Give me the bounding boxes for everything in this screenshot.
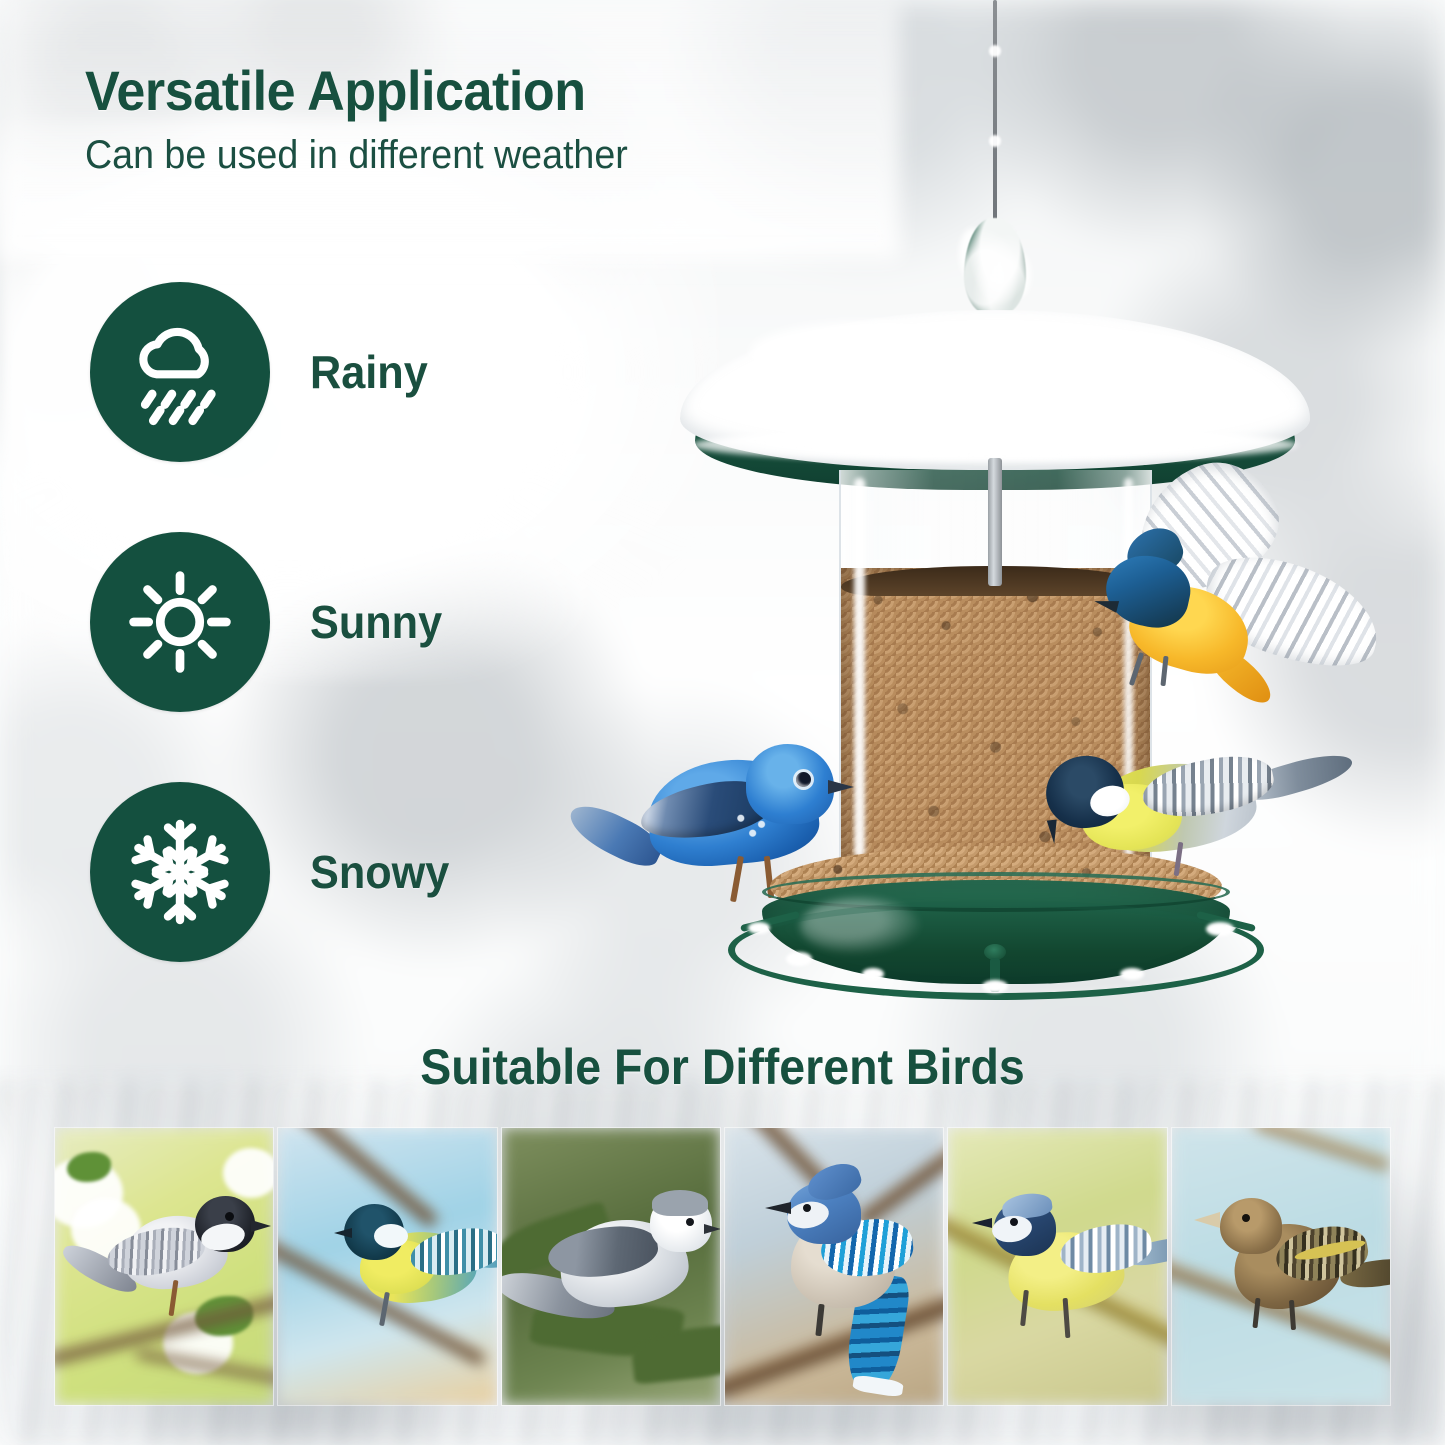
photo-chickadee bbox=[55, 1128, 273, 1405]
photo-great-tit bbox=[278, 1128, 496, 1405]
greenfinch-beak bbox=[1194, 1212, 1220, 1228]
center-rod bbox=[988, 458, 1002, 586]
roof-snow-bump-left bbox=[750, 322, 980, 384]
photo-blue-jay bbox=[725, 1128, 943, 1405]
gray-jay-beak bbox=[704, 1224, 720, 1234]
snow-clump-3 bbox=[982, 980, 1008, 993]
page-title: Versatile Application bbox=[85, 62, 622, 121]
blue-bird-beak bbox=[828, 780, 854, 794]
greenfinch-head bbox=[1220, 1198, 1282, 1254]
chickadee-eye bbox=[225, 1212, 234, 1221]
feature-label-sunny: Sunny bbox=[310, 595, 442, 649]
rain-cloud-icon bbox=[122, 314, 238, 430]
feature-item-rainy: Rainy bbox=[90, 282, 610, 462]
photo-gray-jay bbox=[502, 1128, 720, 1405]
feature-label-snowy: Snowy bbox=[310, 845, 449, 899]
snowy-badge bbox=[90, 782, 270, 962]
product-infographic: Versatile Application Can be used in dif… bbox=[0, 0, 1445, 1445]
feature-item-snowy: Snowy bbox=[90, 782, 610, 962]
snow-clump-4 bbox=[1120, 968, 1144, 980]
flying-bird-leg-left bbox=[1129, 652, 1144, 686]
roof-snow-edge bbox=[692, 428, 1298, 462]
feeder-bird-great-tit bbox=[1030, 738, 1370, 918]
roof-snow-bump-right bbox=[1000, 330, 1210, 386]
snowflake-icon bbox=[120, 812, 240, 932]
snow-clump-2 bbox=[862, 968, 884, 980]
snow-clump-6 bbox=[748, 922, 770, 934]
bird-photo-strip bbox=[55, 1128, 1390, 1405]
blossom-4 bbox=[223, 1148, 273, 1198]
hanging-chain bbox=[993, 0, 997, 232]
weather-feature-list: Rainy Sunny bbox=[90, 282, 610, 1032]
snow-clump-1 bbox=[786, 952, 812, 966]
greenfinch-eye bbox=[1242, 1214, 1250, 1222]
blue-bird-eye bbox=[796, 772, 811, 787]
feeder-bird-flying-yellow bbox=[1090, 470, 1410, 720]
blue-tit-beak bbox=[972, 1218, 992, 1228]
blue-jay-beak bbox=[765, 1202, 791, 1214]
birds-section-title: Suitable For Different Birds bbox=[51, 1038, 1395, 1096]
hanging-bird-feeder bbox=[600, 0, 1390, 1010]
sun-icon bbox=[122, 564, 238, 680]
blue-jay-eye bbox=[803, 1204, 811, 1212]
gray-jay-cap bbox=[652, 1190, 708, 1216]
page-subtitle: Can be used in different weather bbox=[85, 133, 628, 178]
feature-item-sunny: Sunny bbox=[90, 532, 610, 712]
heading-block: Versatile Application Can be used in dif… bbox=[85, 62, 662, 178]
snow-clump-5 bbox=[1206, 922, 1234, 936]
great-tit-beak bbox=[1047, 820, 1059, 845]
photo-blue-tit bbox=[948, 1128, 1166, 1405]
chickadee-beak bbox=[251, 1220, 271, 1232]
photo-greenfinch bbox=[1172, 1128, 1390, 1405]
gray-jay-eye bbox=[686, 1218, 694, 1226]
great-tit-photo-beak bbox=[334, 1228, 352, 1238]
sunny-badge bbox=[90, 532, 270, 712]
rainy-badge bbox=[90, 282, 270, 462]
feature-label-rainy: Rainy bbox=[310, 345, 428, 399]
blue-bird-head bbox=[746, 744, 834, 824]
